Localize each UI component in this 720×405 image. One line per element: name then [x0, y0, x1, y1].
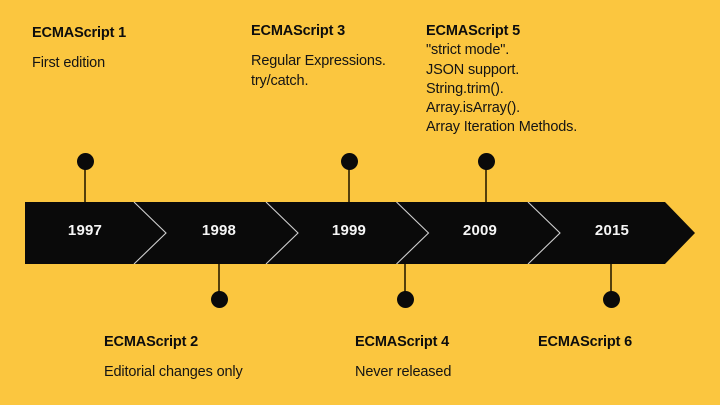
annotation-line: Editorial changes only: [104, 363, 243, 382]
marker-dot-icon: [211, 291, 228, 308]
annotation-below-2: ECMAScript 4Never released: [355, 333, 451, 383]
annotation-line: Regular Expressions.: [251, 52, 386, 71]
annotation-spacer: [32, 43, 126, 54]
marker-dot-icon: [397, 291, 414, 308]
timeline-year-2009: 2009: [463, 222, 497, 239]
timeline-year-1997: 1997: [68, 222, 102, 239]
annotation-spacer: [355, 352, 451, 363]
annotation-line: First edition: [32, 54, 126, 73]
annotation-spacer: [251, 41, 386, 52]
annotation-line: Array.isArray().: [426, 99, 577, 118]
annotation-line: Array Iteration Methods.: [426, 118, 577, 137]
annotation-below-3: ECMAScript 6: [538, 333, 632, 352]
marker-dot-icon: [603, 291, 620, 308]
timeline-year-1999: 1999: [332, 222, 366, 239]
annotation-title: ECMAScript 6: [538, 333, 632, 352]
annotation-title: ECMAScript 4: [355, 333, 451, 352]
annotation-title: ECMAScript 3: [251, 22, 386, 41]
annotation-above-3: ECMAScript 5"strict mode".JSON support.S…: [426, 22, 577, 138]
annotation-below-1: ECMAScript 2Editorial changes only: [104, 333, 243, 383]
annotation-title: ECMAScript 1: [32, 24, 126, 43]
annotation-above-1: ECMAScript 1First edition: [32, 24, 126, 74]
timeline-diagram: ECMAScript 1First editionECMAScript 3Reg…: [0, 0, 720, 405]
annotation-line: String.trim().: [426, 80, 577, 99]
annotation-spacer: [104, 352, 243, 363]
annotation-above-2: ECMAScript 3Regular Expressions.try/catc…: [251, 22, 386, 91]
timeline-year-2015: 2015: [595, 222, 629, 239]
annotation-title: ECMAScript 5: [426, 22, 577, 41]
annotation-line: Never released: [355, 363, 451, 382]
marker-dot-icon: [478, 153, 495, 170]
marker-dot-icon: [341, 153, 358, 170]
timeline-year-1998: 1998: [202, 222, 236, 239]
annotation-line: "strict mode".: [426, 41, 577, 60]
marker-dot-icon: [77, 153, 94, 170]
annotation-title: ECMAScript 2: [104, 333, 243, 352]
annotation-line: JSON support.: [426, 61, 577, 80]
annotation-line: try/catch.: [251, 72, 386, 91]
